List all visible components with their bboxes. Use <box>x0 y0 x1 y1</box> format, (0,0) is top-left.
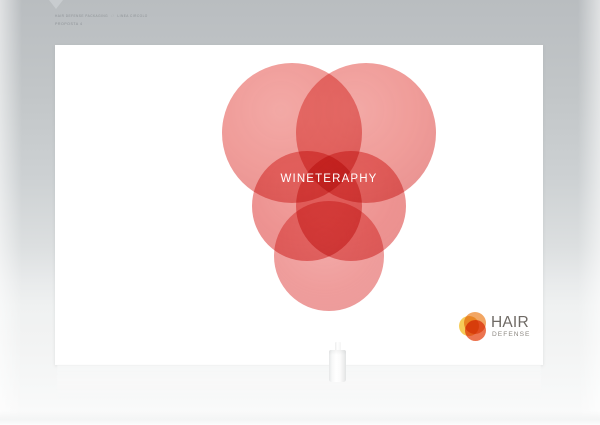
overlapping-circles-icon <box>459 312 489 342</box>
slide-reflection <box>57 365 541 401</box>
grape-cluster-artwork: WINETERAPHY <box>214 53 444 323</box>
brand-wordmark: HAIR DEFENSE <box>491 315 531 338</box>
circle-cluster <box>214 53 600 373</box>
brand-logo: HAIR DEFENSE <box>459 307 537 347</box>
header-project-line: HAIR DEFENSE PACKAGING // LINEA CIRCOLO <box>55 14 148 19</box>
header-proposal-number: PROPOSTA 4 <box>55 22 148 28</box>
brand-name-primary: HAIR <box>491 315 531 331</box>
slide-canvas: WINETERAPHY HAIR DEFENSE <box>55 45 543 365</box>
presentation-page: HAIR DEFENSE PACKAGING // LINEA CIRCOLO … <box>0 0 600 425</box>
slide-marker-icon <box>49 0 63 9</box>
header-client-name: LINEA CIRCOLO <box>117 14 147 18</box>
logo-circle-red <box>465 320 486 341</box>
header-separator: // <box>109 14 116 18</box>
concept-title: WINETERAPHY <box>214 173 444 185</box>
slide-header: HAIR DEFENSE PACKAGING // LINEA CIRCOLO … <box>55 14 148 28</box>
product-bottle <box>329 342 346 382</box>
brand-name-secondary: DEFENSE <box>491 332 531 339</box>
bottom-circle <box>274 201 384 311</box>
floor-gradient <box>0 411 600 425</box>
header-project-name: HAIR DEFENSE PACKAGING <box>55 14 108 18</box>
bottle-shoulder <box>329 350 346 355</box>
